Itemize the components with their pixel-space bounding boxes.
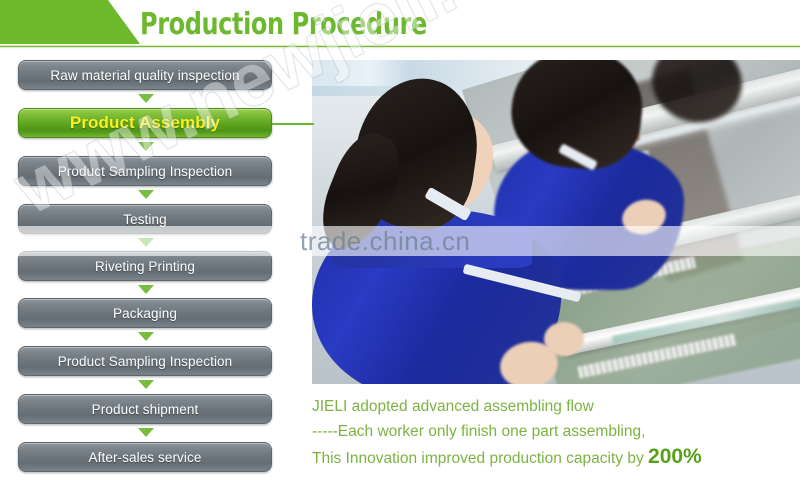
flow-step-product-assembly[interactable]: Product Assembly — [18, 108, 272, 138]
photo-caption: JIELI adopted advanced assembling flow -… — [312, 394, 792, 471]
flow-step-product-shipment[interactable]: Product shipment — [18, 394, 272, 424]
flow-step-5-wrap: Packaging — [18, 298, 272, 328]
caption-line-1: JIELI adopted advanced assembling flow — [312, 394, 792, 419]
flow-step-raw-material-quality-inspection[interactable]: Raw material quality inspection — [18, 60, 272, 90]
flow-arrow-down-icon-7 — [138, 428, 154, 437]
flow-step-7-wrap: Product shipment — [18, 394, 272, 424]
flow-step-6-wrap: Product Sampling Inspection — [18, 346, 272, 376]
caption-line-3: This Innovation improved production capa… — [312, 444, 792, 471]
page-title: Production Procedure — [140, 2, 427, 46]
capacity-increase-value: 200% — [648, 445, 702, 468]
production-flow-chart: Raw material quality inspection Product … — [0, 54, 300, 500]
flow-step-1-wrap: Product Assembly — [18, 108, 272, 138]
flow-arrow-down-icon-0 — [138, 94, 154, 103]
site-watermark-band-text: trade.china.cn — [300, 226, 470, 256]
flow-step-packaging[interactable]: Packaging — [18, 298, 272, 328]
slide-root: Production Procedure — [0, 0, 800, 500]
header-divider-line — [0, 46, 800, 47]
highlight-connector-line — [272, 123, 314, 125]
caption-line-3-prefix: This Innovation improved production capa… — [312, 450, 648, 467]
flow-step-after-sales-service[interactable]: After-sales service — [18, 442, 272, 472]
caption-line-2: -----Each worker only finish one part as… — [312, 419, 792, 444]
flow-step-product-sampling-inspection-1[interactable]: Product Sampling Inspection — [18, 156, 272, 186]
flow-arrow-down-icon-2 — [138, 190, 154, 199]
flow-arrow-down-icon-4 — [138, 285, 154, 294]
worker-front-hand-right — [544, 322, 584, 356]
flow-step-product-sampling-inspection-2[interactable]: Product Sampling Inspection — [18, 346, 272, 376]
flow-arrow-down-icon-6 — [138, 380, 154, 389]
header-accent-shape — [0, 0, 140, 44]
flow-arrow-down-icon-1 — [138, 142, 154, 151]
flow-step-8-wrap: After-sales service — [18, 442, 272, 472]
factory-photo — [312, 60, 800, 384]
slide-header: Production Procedure — [0, 0, 800, 54]
flow-step-0-wrap: Raw material quality inspection — [18, 60, 272, 90]
flow-step-2-wrap: Product Sampling Inspection — [18, 156, 272, 186]
flow-arrow-down-icon-5 — [138, 332, 154, 341]
